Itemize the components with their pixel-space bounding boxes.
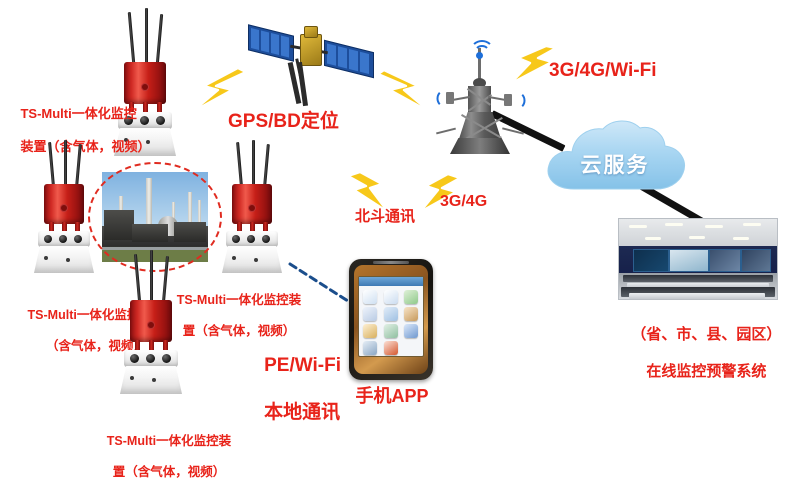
cloud-label: 云服务 [540, 149, 690, 179]
link-label-gps: GPS/BD定位 [228, 110, 339, 134]
app-icon[interactable] [384, 324, 398, 338]
pda-speaker [373, 261, 409, 264]
app-icon[interactable] [363, 324, 377, 338]
app-icon[interactable] [363, 290, 377, 304]
link-label-3g4g-wifi: 3G/4G/Wi-Fi [549, 59, 657, 83]
app-icon[interactable] [404, 290, 418, 304]
pda-status-bar [359, 277, 423, 286]
app-icon[interactable] [384, 290, 398, 304]
satellite-icon [248, 12, 374, 108]
handheld-pda-device[interactable] [349, 259, 433, 380]
app-icon[interactable] [384, 307, 398, 321]
app-icon[interactable] [363, 307, 377, 321]
app-icon[interactable] [404, 307, 418, 321]
link-label-beidou: 北斗通讯 [355, 208, 415, 227]
link-label-local: PE/Wi-Fi 本地通讯 [243, 330, 341, 449]
control-room-label: （省、市、县、园区） 在线监控预警系统 [600, 307, 796, 401]
pda-screen[interactable] [358, 276, 424, 357]
lightning-bolt-icon-gps-right [378, 68, 434, 116]
cloud-service-node: 云服务 [540, 115, 690, 205]
diagram-canvas: 云服务 [0, 0, 797, 464]
pda-app-grid[interactable] [363, 290, 421, 355]
cell-tower-icon [432, 18, 528, 156]
link-label-3g4g: 3G/4G [440, 192, 487, 212]
pda-label: 手机APP [338, 385, 446, 408]
device-label-bottom: TS-Multi一体化监控装 置（含气体，视频） [62, 418, 262, 496]
app-icon[interactable] [404, 324, 418, 338]
app-icon[interactable] [363, 341, 377, 355]
ts-multi-device-bottom[interactable] [108, 250, 218, 410]
app-icon[interactable] [384, 341, 398, 355]
control-room-photo [618, 218, 778, 300]
ts-multi-device-middle-center[interactable] [212, 140, 322, 290]
